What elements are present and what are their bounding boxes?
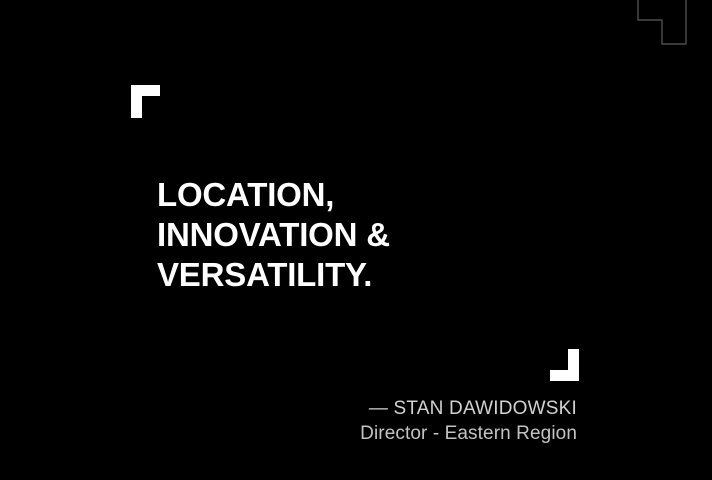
- attribution-role: Director - Eastern Region: [360, 421, 577, 446]
- bracket-arm-vertical: [568, 349, 579, 381]
- headline-line-3: VERSATILITY.: [157, 255, 390, 295]
- bracket-arm-vertical: [131, 85, 142, 118]
- headline: LOCATION, INNOVATION & VERSATILITY.: [157, 175, 390, 295]
- headline-line-1: LOCATION,: [157, 175, 390, 215]
- corner-bracket-top-left-icon: [131, 85, 160, 118]
- attribution-name: — STAN DAWIDOWSKI: [360, 396, 577, 421]
- quote-slide: LOCATION, INNOVATION & VERSATILITY. — ST…: [0, 0, 712, 480]
- corner-bracket-bottom-right-icon: [550, 349, 579, 381]
- headline-line-2: INNOVATION &: [157, 215, 390, 255]
- corner-bracket-top-right-icon: [636, 0, 688, 50]
- attribution: — STAN DAWIDOWSKI Director - Eastern Reg…: [360, 396, 577, 446]
